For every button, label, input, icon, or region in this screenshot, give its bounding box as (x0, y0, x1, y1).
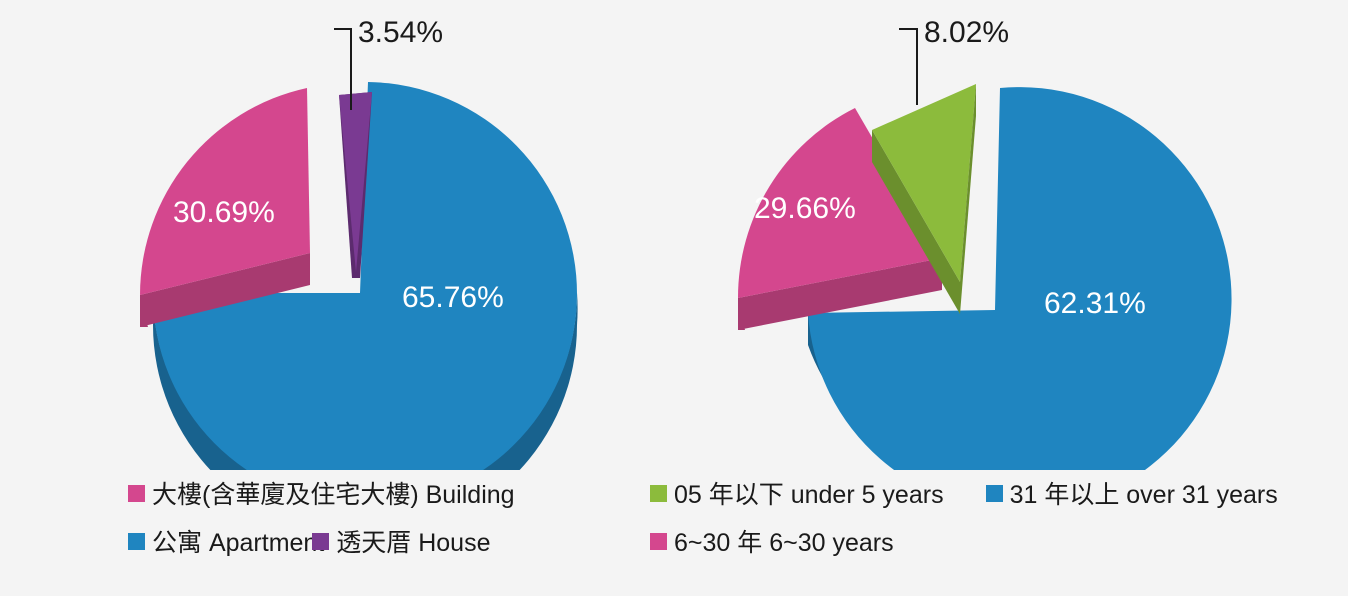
pie-chart-building-type: 3.54% 30.69% 65.76% (0, 0, 660, 470)
legend-item-building[interactable]: 大樓(含華廈及住宅大樓) Building (128, 470, 515, 519)
pie-svg-left: 3.54% 30.69% 65.76% (0, 0, 660, 470)
legend-row: 公寓 Apartment 透天厝 House (128, 518, 648, 566)
legend-label: 透天厝 House (336, 519, 490, 567)
legend-label: 6~30 年 6~30 years (674, 519, 894, 567)
legend-label: 公寓 Apartment (152, 519, 324, 567)
legend-row: 6~30 年 6~30 years (650, 518, 1340, 566)
legend-swatch-icon (128, 485, 145, 502)
legend-label: 31 年以上 over 31 years (1010, 471, 1278, 519)
legend-row: 大樓(含華廈及住宅大樓) Building (128, 470, 648, 518)
legend-swatch-icon (312, 533, 329, 550)
legend-swatch-icon (650, 485, 667, 502)
pie-slice-apartment-edge (577, 293, 578, 325)
legend-item-under5[interactable]: 05 年以下 under 5 years (650, 470, 944, 519)
pie-label-apartment: 65.76% (402, 281, 504, 314)
pie-chart-building-age: 8.02% 29.66% 62.31% (660, 0, 1348, 470)
legend-item-over31[interactable]: 31 年以上 over 31 years (986, 470, 1278, 519)
legend-swatch-icon (650, 533, 667, 550)
legend-label: 大樓(含華廈及住宅大樓) Building (152, 471, 515, 519)
legend-label: 05 年以下 under 5 years (674, 471, 944, 519)
legend-item-6to30[interactable]: 6~30 年 6~30 years (650, 518, 894, 567)
legend-swatch-icon (986, 485, 1003, 502)
pie-label-house: 3.54% (358, 16, 443, 49)
pie-svg-right: 8.02% 29.66% 62.31% (660, 0, 1348, 470)
legend-building-type: 大樓(含華廈及住宅大樓) Building 公寓 Apartment 透天厝 H… (128, 470, 648, 566)
legend-row: 05 年以下 under 5 years 31 年以上 over 31 year… (650, 470, 1340, 518)
pie-label-over31: 62.31% (1044, 287, 1146, 320)
pie-label-6to30: 29.66% (754, 192, 856, 225)
legend-item-apartment[interactable]: 公寓 Apartment (128, 518, 324, 567)
chart-canvas: 3.54% 30.69% 65.76% (0, 0, 1348, 596)
legend-item-house[interactable]: 透天厝 House (312, 518, 490, 567)
callout-leader-under5 (899, 29, 917, 105)
legend-building-age: 05 年以下 under 5 years 31 年以上 over 31 year… (650, 470, 1340, 566)
pie-label-building: 30.69% (173, 196, 275, 229)
legend-swatch-icon (128, 533, 145, 550)
pie-label-under5: 8.02% (924, 16, 1009, 49)
